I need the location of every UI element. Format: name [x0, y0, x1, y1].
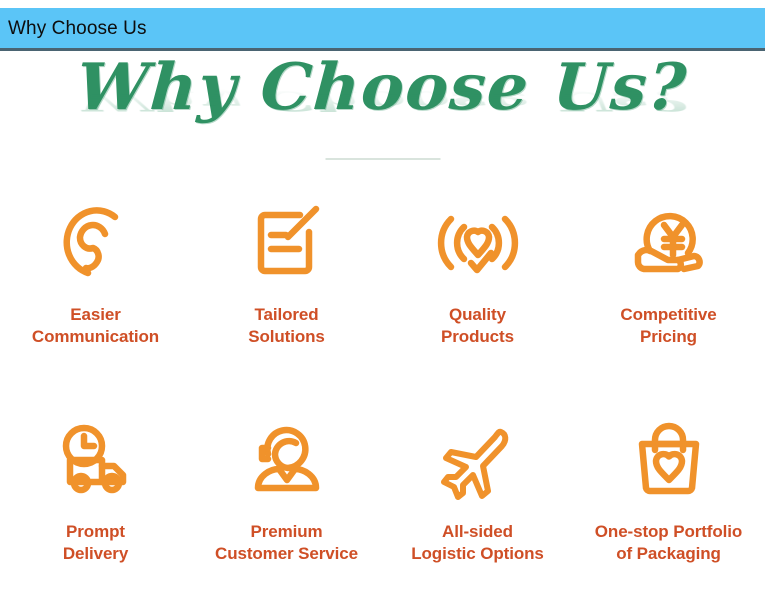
feature-label: Prompt Delivery [63, 521, 128, 566]
window-header-bar: Why Choose Us [0, 8, 765, 51]
hero-section: Why Choose Us? Why Choose Us? [0, 54, 765, 174]
features-grid: Easier Communication Tailored Solutions [0, 194, 765, 566]
ear-listening-icon [46, 194, 146, 290]
heart-signal-check-icon [428, 194, 528, 290]
feature-item-competitive-pricing[interactable]: Competitive Pricing [573, 194, 764, 349]
feature-label: Tailored Solutions [248, 304, 325, 349]
feature-item-tailored-solutions[interactable]: Tailored Solutions [191, 194, 382, 349]
hand-yen-coin-icon [619, 194, 719, 290]
delivery-truck-clock-icon [46, 413, 146, 509]
feature-item-quality-products[interactable]: Quality Products [382, 194, 573, 349]
feature-item-all-sided-logistic-options[interactable]: All-sided Logistic Options [382, 413, 573, 566]
page-content: Why Choose Us? Why Choose Us? Easier Com… [0, 54, 765, 599]
feature-label: Easier Communication [32, 304, 159, 349]
feature-item-prompt-delivery[interactable]: Prompt Delivery [0, 413, 191, 566]
title-divider [325, 158, 440, 160]
feature-item-premium-customer-service[interactable]: Premium Customer Service [191, 413, 382, 566]
feature-label: Quality Products [441, 304, 514, 349]
feature-row-2: Prompt Delivery Premium Customer Service [0, 413, 765, 566]
document-pencil-icon [237, 194, 337, 290]
feature-label: Premium Customer Service [215, 521, 358, 566]
support-agent-headset-icon [237, 413, 337, 509]
feature-label: All-sided Logistic Options [411, 521, 544, 566]
feature-label: One-stop Portfolio of Packaging [595, 521, 742, 566]
airplane-icon [428, 413, 528, 509]
window-title: Why Choose Us [0, 19, 147, 38]
feature-item-one-stop-portfolio-of-packaging[interactable]: One-stop Portfolio of Packaging [573, 413, 764, 566]
feature-label: Competitive Pricing [620, 304, 716, 349]
feature-item-easier-communication[interactable]: Easier Communication [0, 194, 191, 349]
shopping-bag-heart-icon [619, 413, 719, 509]
feature-row-1: Easier Communication Tailored Solutions [0, 194, 765, 349]
page-title-reflection: Why Choose Us? [0, 87, 765, 114]
